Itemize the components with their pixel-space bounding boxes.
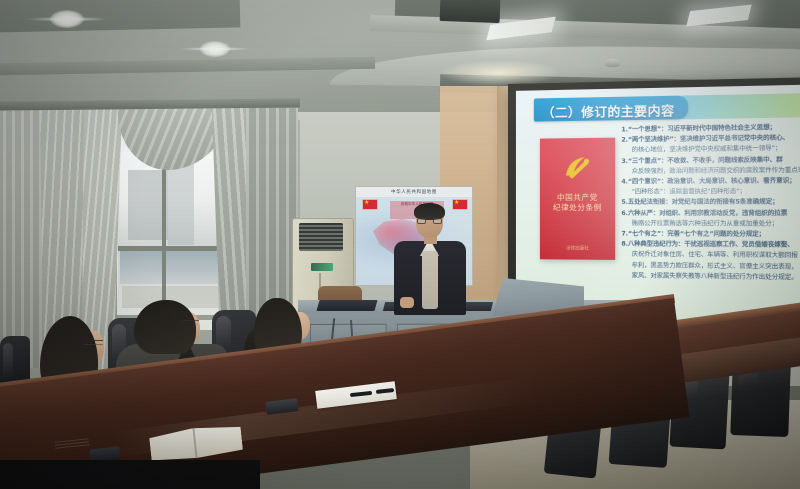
- slide-line: 家风、对家属失察失教等八种新型违纪行为作出处分规定。: [621, 271, 800, 283]
- wall-wash-glow: [440, 60, 560, 86]
- presenter-scarf: [422, 251, 438, 309]
- book-spine: [193, 428, 198, 458]
- slide-title-accent: [682, 93, 800, 119]
- slide-line: 庆祝乔迁对象住房、住宅、车辆等、利用职权谋取大额回报: [621, 250, 800, 261]
- ac-display: [311, 263, 333, 271]
- slide-line: 3.“三个重点”：不收敛、不收手，问题线索反映集中、群: [621, 155, 800, 166]
- slide-line: 6.六种从严：对组织、利用宗教活动反党，违背组织的拉票: [621, 208, 800, 218]
- meeting-room-photo: 中华人民共和国地图 庆祝中华人民共和国 （二）修订的主要内容 中国共: [0, 0, 800, 489]
- presenter-hand: [400, 297, 414, 308]
- attendee-hair: [134, 300, 196, 354]
- slide-line: “四种形态”：追踪监督执纪“四种形态”；: [621, 187, 800, 197]
- glasses-icon: [182, 320, 199, 325]
- recessed-spotlight-icon: [200, 41, 230, 57]
- slide-line: 众反映强烈，政治问题和经济问题交织的腐败案件作为重点审查内容；: [621, 165, 800, 176]
- slide-line: 8.八种典型违纪行为：干扰巡视巡察工作、党员借婚丧嫁娶、: [621, 240, 800, 251]
- standing-presenter: [392, 205, 468, 315]
- slide-line: 5.五处纪法衔接：对党纪与国法的衔接有5条准确规定；: [621, 198, 800, 208]
- glasses-icon: [417, 218, 442, 224]
- slide-title-bar: （二）修订的主要内容: [534, 95, 688, 121]
- slide-line: 贿赂公开拉票贿选等六种违纪行为从重或加重处分；: [621, 219, 800, 229]
- ac-grille: [299, 223, 343, 251]
- regulations-book-cover: 中国共产党 纪律处分条例 法律出版社: [540, 138, 615, 260]
- hammer-and-sickle-icon: [562, 154, 593, 181]
- book-publisher: 法律出版社: [540, 245, 615, 252]
- slide-line: 的核心地位，坚决维护党中央权威和集中统一领导”；: [621, 144, 800, 156]
- recessed-spotlight-icon: [50, 10, 84, 28]
- slide-line: 牟利，黑恶势力欺压群众，形式主义、官僚主义突出表现，: [621, 261, 800, 272]
- book-title-line2: 纪律处分条例: [540, 203, 615, 213]
- map-poster-title: 中华人民共和国地图: [356, 189, 472, 195]
- projector-icon: [440, 0, 501, 23]
- slide-line: 7.“七个有之”：完善“七个有之”问题的处分规定；: [621, 229, 800, 239]
- book-title-line1: 中国共产党: [540, 193, 615, 203]
- slide-title: （二）修订的主要内容: [542, 100, 675, 122]
- glasses-icon: [84, 340, 103, 345]
- foreground-shadow: [0, 460, 260, 489]
- slide-line: 2.“两个坚决维护”：坚决维护习近平总书记党中央的核心、: [621, 133, 800, 145]
- smoke-detector-icon: [605, 59, 620, 67]
- china-flag-icon: [362, 199, 378, 210]
- slide-line: 4.“四个意识”：政治意识、大局意识、核心意识、看齐意识；: [621, 176, 800, 187]
